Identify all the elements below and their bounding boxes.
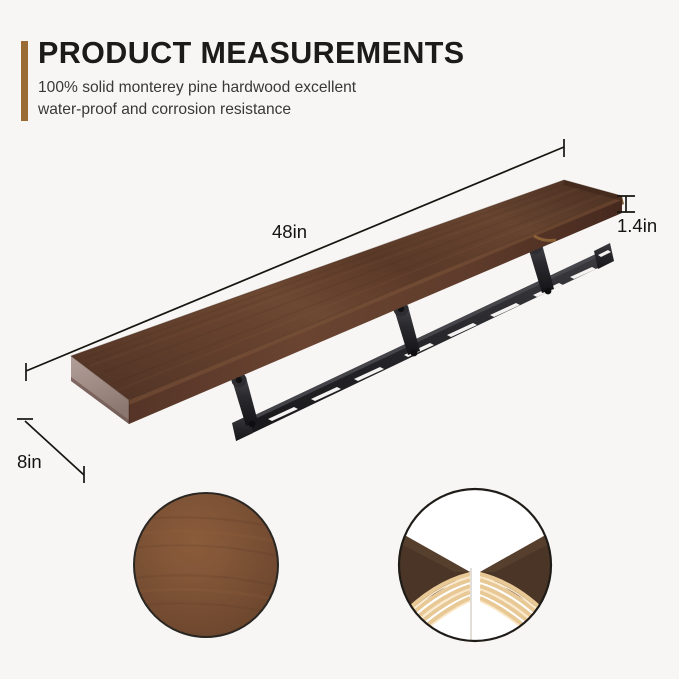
- wood-surface-detail-inset: [134, 493, 278, 637]
- dimension-label-thickness: 1.4in: [617, 215, 657, 237]
- infographic-canvas: PRODUCT MEASUREMENTS 100% solid monterey…: [0, 0, 679, 679]
- product-illustration: [0, 0, 679, 679]
- dimension-label-depth: 8in: [17, 451, 42, 473]
- mitred-corner-joint-inset: [396, 489, 554, 650]
- dimension-label-length: 48in: [272, 221, 307, 243]
